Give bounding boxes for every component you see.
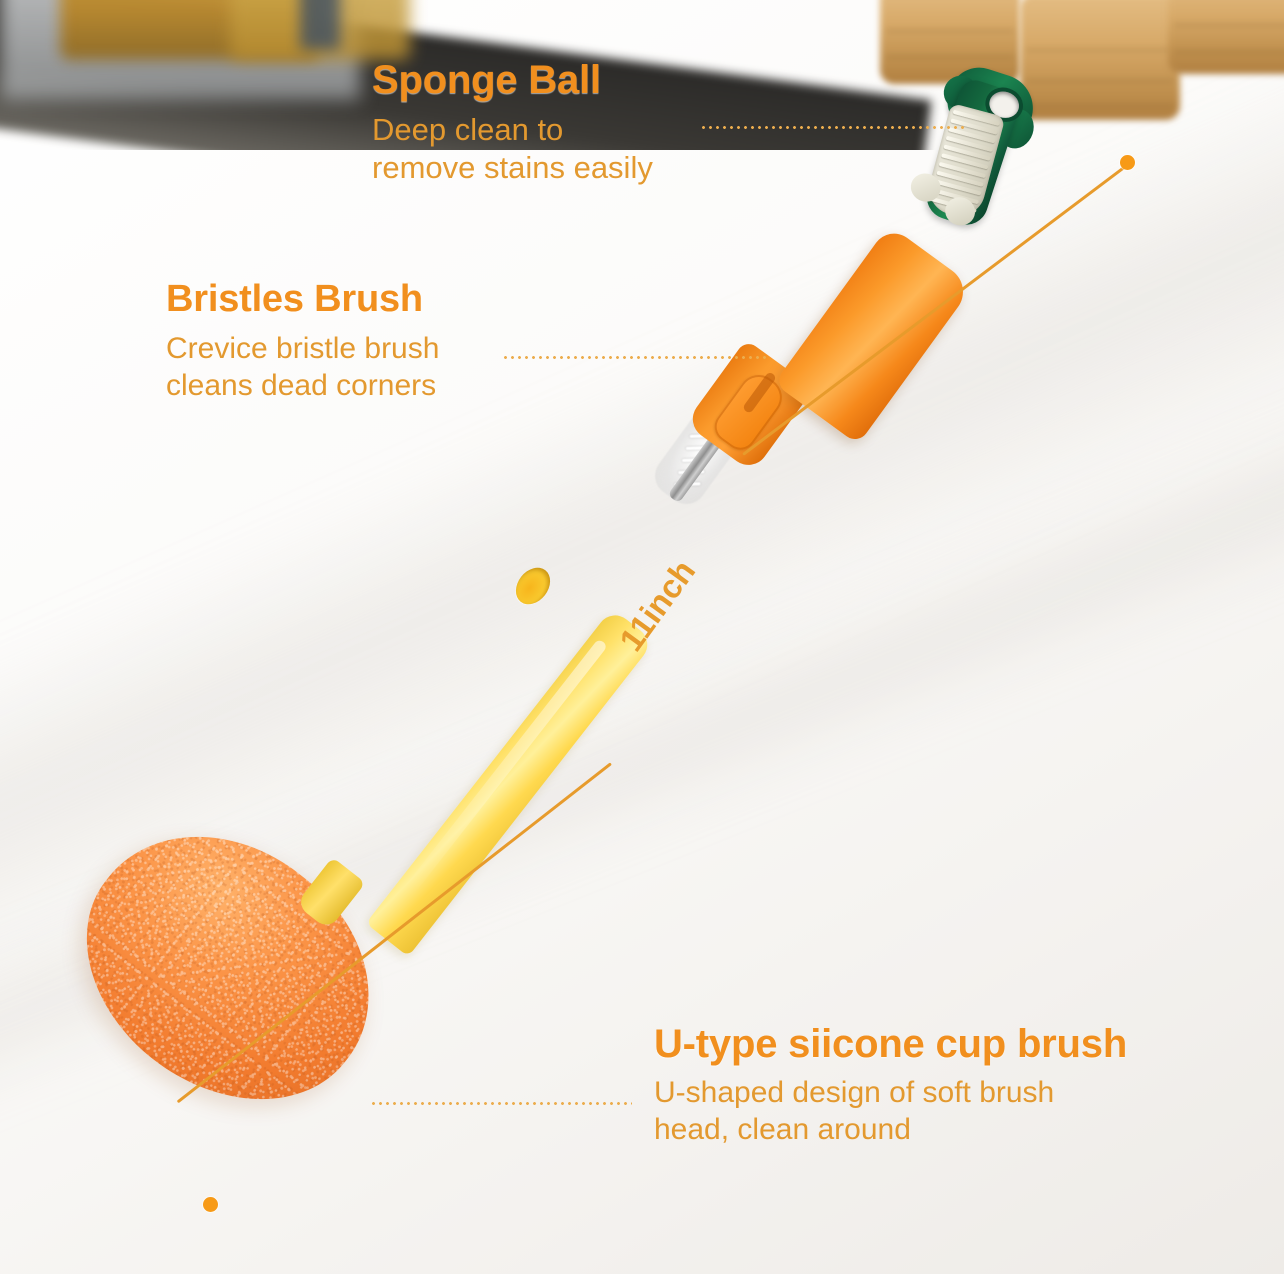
callout-subtitle-line: Crevice bristle brush (166, 331, 439, 368)
callout-subtitle-line: head, clean around (654, 1112, 1127, 1149)
wooden-lid (1168, 0, 1284, 74)
infographic-canvas: 11inch Sponge Ball Deep clean to remove … (0, 0, 1284, 1274)
dimension-endpoint-bottom (203, 1197, 218, 1212)
dimension-endpoint-top (1120, 155, 1135, 170)
brush-handle (774, 225, 973, 445)
leader-line-bristles-brush (502, 356, 768, 359)
leader-line-sponge-ball (700, 126, 966, 129)
callout-subtitle: Crevice bristle brush cleans dead corner… (166, 331, 439, 404)
callout-title: Bristles Brush (166, 278, 439, 321)
callout-sponge-ball: Sponge Ball Deep clean to remove stains … (372, 58, 653, 187)
callout-subtitle-line: cleans dead corners (166, 368, 439, 405)
orange-sponge-head (37, 783, 419, 1154)
sponge-texture (37, 783, 419, 1154)
callout-subtitle: U-shaped design of soft brush head, clea… (654, 1075, 1127, 1148)
callout-title: U-type siicone cup brush (654, 1022, 1127, 1067)
callout-subtitle-line: remove stains easily (372, 149, 653, 187)
blue-object (300, 0, 340, 50)
yellow-handle-shaft (366, 608, 655, 956)
callout-u-type-silicone-cup-brush: U-type siicone cup brush U-shaped design… (654, 1022, 1127, 1148)
callout-subtitle: Deep clean to remove stains easily (372, 111, 653, 187)
yellow-sponge-cup-brush (60, 520, 700, 1140)
callout-subtitle-line: U-shaped design of soft brush (654, 1075, 1127, 1112)
callout-subtitle-line: Deep clean to (372, 111, 653, 149)
leader-line-u-type-brush (370, 1102, 632, 1105)
callout-bristles-brush: Bristles Brush Crevice bristle brush cle… (166, 278, 439, 404)
callout-title: Sponge Ball (372, 58, 653, 103)
orange-crevice-brush (646, 214, 946, 544)
